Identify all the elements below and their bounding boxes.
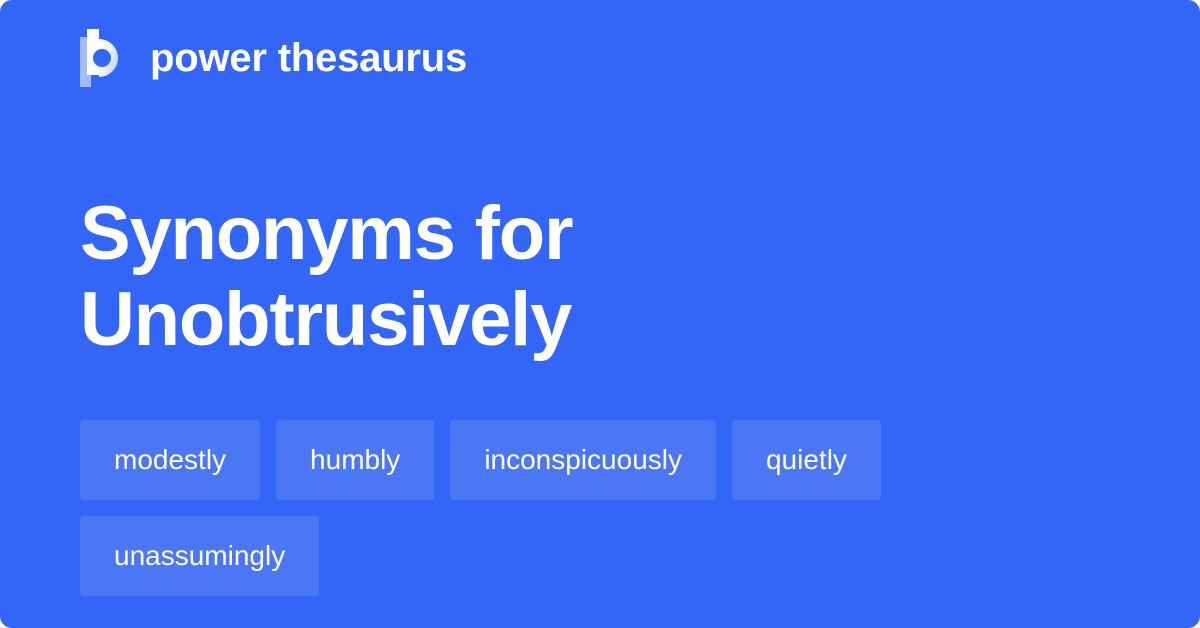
synonym-chip[interactable]: unassumingly: [80, 516, 319, 596]
synonyms-card: power thesaurus Synonyms for Unobtrusive…: [0, 0, 1200, 628]
synonym-chip[interactable]: quietly: [732, 420, 881, 500]
brand-name: power thesaurus: [150, 38, 467, 78]
page-title-line-2: Unobtrusively: [80, 277, 1120, 363]
power-thesaurus-b-logo-icon: [80, 29, 126, 87]
synonym-chip[interactable]: inconspicuously: [450, 420, 716, 500]
brand-header[interactable]: power thesaurus: [80, 28, 467, 88]
synonym-chip[interactable]: humbly: [276, 420, 434, 500]
page-title-line-1: Synonyms for: [80, 191, 1120, 277]
page-title: Synonyms for Unobtrusively: [80, 191, 1120, 363]
synonym-chip-list: modestly humbly inconspicuously quietly …: [80, 420, 1130, 596]
synonym-chip[interactable]: modestly: [80, 420, 260, 500]
